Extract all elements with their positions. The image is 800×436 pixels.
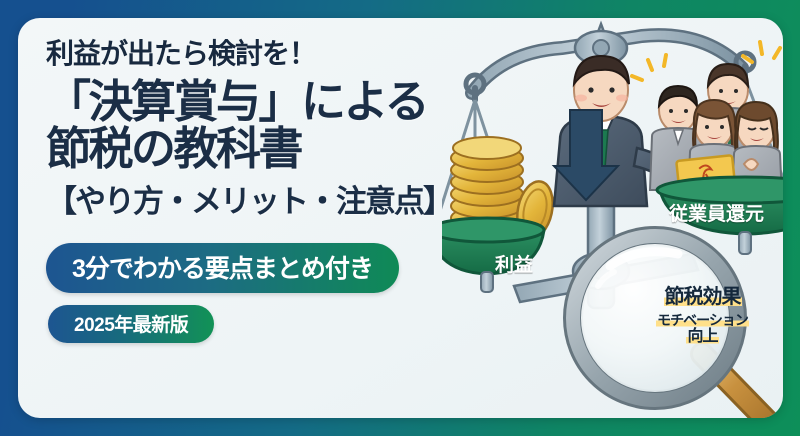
year-badge: 2025年最新版: [48, 305, 214, 343]
magnifier-text-group: 節税効果 モチベーション 向上: [640, 286, 765, 346]
magnifier-line-1: 節税効果: [640, 286, 765, 309]
kicker-text: 利益が出たら検討を！: [46, 32, 466, 72]
summary-badge: 3分でわかる要点まとめ付き: [46, 243, 399, 293]
magnifier-line-2: モチベーション: [640, 312, 765, 328]
magnifier-line-3: 向上: [640, 328, 765, 346]
banner-card: 利益が出たら検討を！ 「決算賞与」による 節税の教科書 【やり方・メリット・注意…: [18, 18, 783, 418]
employees-group: [632, 42, 782, 198]
left-pan-label: 利益: [495, 250, 533, 277]
headline-line-2: 節税の教科書: [46, 125, 466, 173]
headline-block: 利益が出たら検討を！ 「決算賞与」による 節税の教科書 【やり方・メリット・注意…: [46, 32, 466, 343]
subheadline-text: 【やり方・メリット・注意点】: [46, 176, 466, 221]
right-pan-label: 従業員還元: [669, 199, 764, 226]
badge-row-year: 2025年最新版: [46, 293, 466, 343]
badge-row-summary: 3分でわかる要点まとめ付き: [46, 221, 466, 293]
headline-line-1: 「決算賞与」による: [46, 78, 466, 126]
